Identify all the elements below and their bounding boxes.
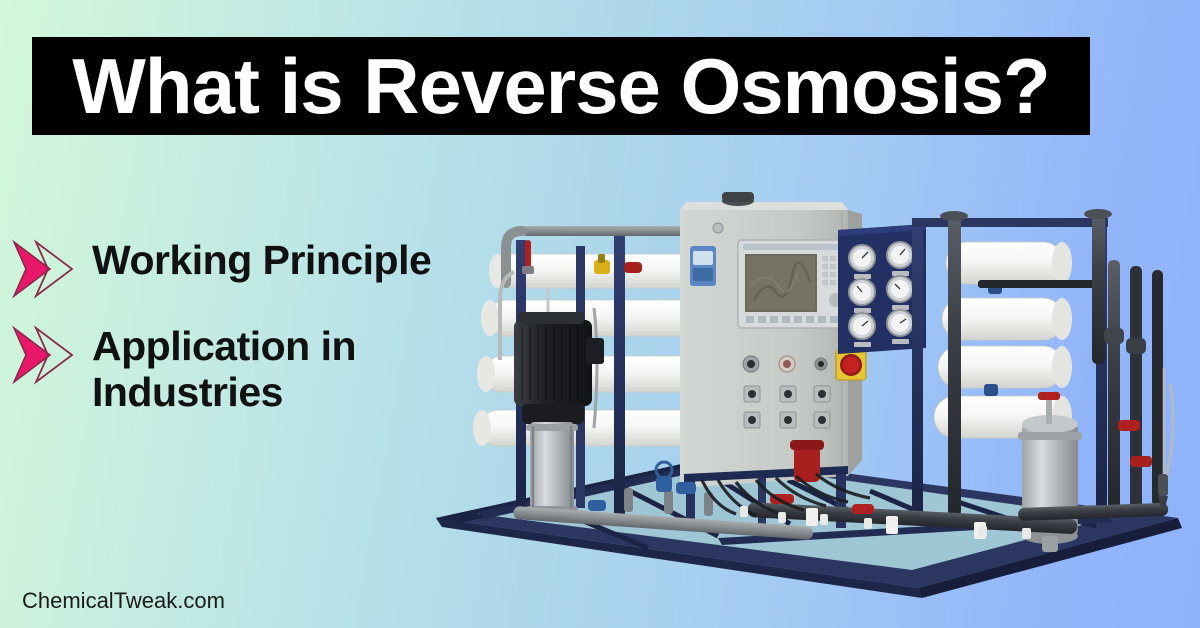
control-tubing-right [1164,368,1173,480]
list-item: Working Principle [10,236,450,300]
list-item: Application in Industries [10,322,450,416]
hmi-touch-panel [738,240,850,328]
bullet-list: Working Principle Application in Industr… [10,236,450,438]
list-item-label: Application in Industries [92,322,450,416]
site-watermark: ChemicalTweak.com [22,588,225,614]
emergency-stop-button [836,350,866,380]
double-chevron-right-icon [10,238,84,300]
list-item-label: Working Principle [92,236,431,284]
valve-handle-red-mid [624,262,642,273]
reverse-osmosis-skid-photo [418,188,1188,608]
page-title-band: What is Reverse Osmosis? [32,37,1090,135]
page-title: What is Reverse Osmosis? [72,47,1049,125]
conductivity-meter [690,246,716,286]
double-chevron-right-icon [10,324,84,386]
